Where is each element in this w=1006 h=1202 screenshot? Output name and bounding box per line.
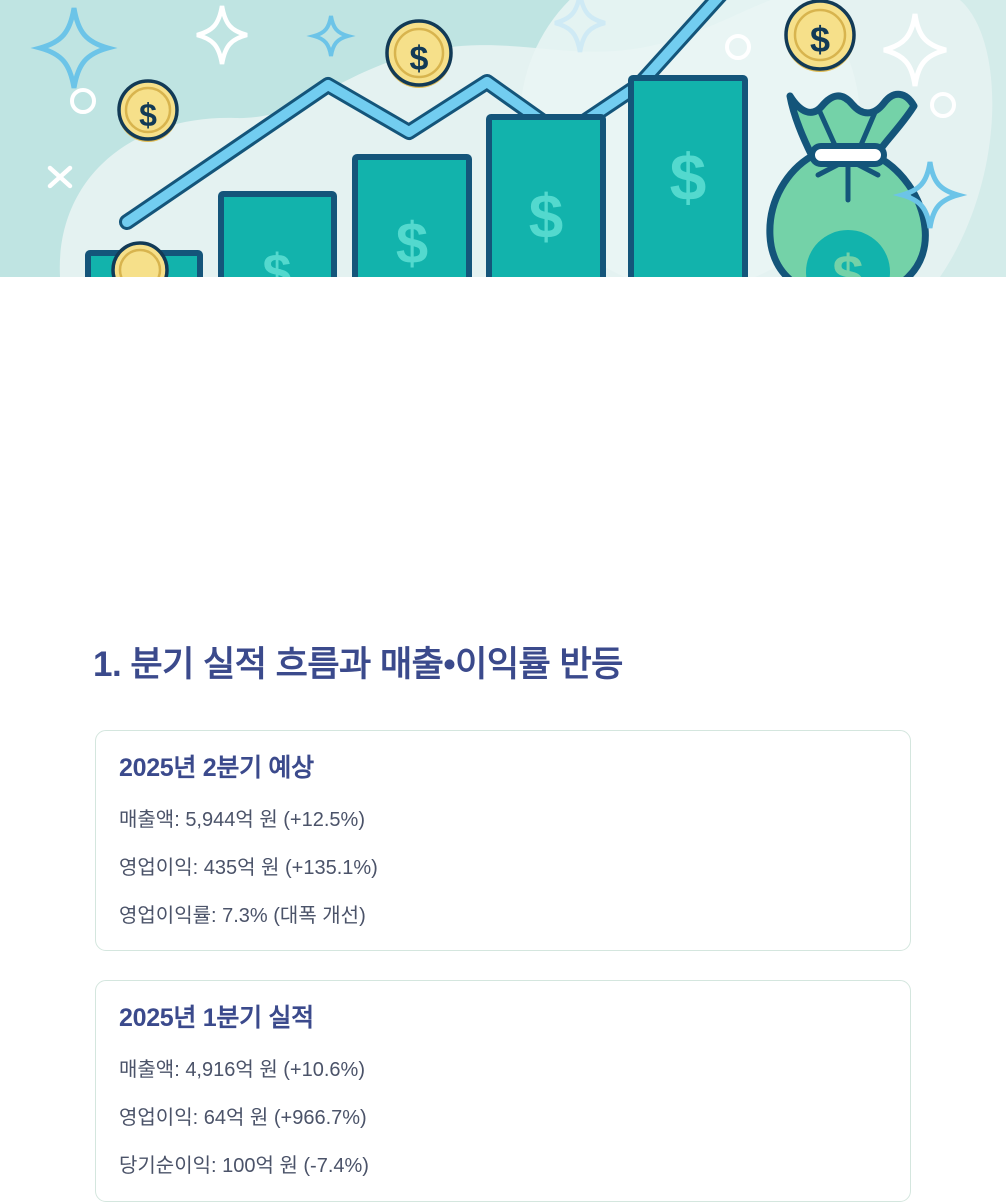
- hero-bar-3: $: [355, 157, 469, 277]
- svg-text:$: $: [396, 211, 428, 276]
- hero-bar-5: $: [631, 78, 745, 277]
- svg-text:$: $: [810, 19, 830, 60]
- svg-text:$: $: [139, 97, 157, 133]
- page-title: 1. 분기 실적 흐름과 매출•이익률 반등: [93, 643, 623, 687]
- card-metric-operating-margin: 영업이익률: 7.3% (대폭 개선): [119, 903, 366, 929]
- page-root: $ $ $ $: [0, 0, 1006, 1024]
- svg-text:$: $: [263, 244, 292, 277]
- svg-text:$: $: [529, 183, 563, 252]
- hero-bar-4: $: [489, 117, 603, 277]
- card-title: 2025년 1분기 실적: [119, 1002, 314, 1034]
- hero-svg: $ $ $ $: [0, 0, 1006, 277]
- quarter-card-q1-actual: 2025년 1분기 실적 매출액: 4,916억 원 (+10.6%) 영업이익…: [95, 980, 911, 1202]
- svg-text:$: $: [410, 40, 429, 78]
- card-metric-operating-profit: 영업이익: 435억 원 (+135.1%): [119, 855, 378, 881]
- card-metric-revenue: 매출액: 5,944억 원 (+12.5%): [119, 807, 365, 833]
- svg-text:$: $: [670, 140, 707, 214]
- coin-right-icon: $: [785, 1, 855, 72]
- card-metric-operating-profit: 영업이익: 64억 원 (+966.7%): [119, 1105, 367, 1131]
- coin-left-icon: $: [118, 81, 178, 142]
- hero-bar-2: $: [221, 194, 334, 277]
- card-title: 2025년 2분기 예상: [119, 752, 314, 784]
- coin-center-icon: $: [386, 21, 452, 88]
- card-metric-revenue: 매출액: 4,916억 원 (+10.6%): [119, 1057, 365, 1083]
- hero-illustration: $ $ $ $: [0, 0, 1006, 277]
- card-metric-net-income: 당기순이익: 100억 원 (-7.4%): [119, 1153, 369, 1179]
- quarter-card-q2-forecast: 2025년 2분기 예상 매출액: 5,944억 원 (+12.5%) 영업이익…: [95, 730, 911, 951]
- svg-text:$: $: [832, 243, 863, 277]
